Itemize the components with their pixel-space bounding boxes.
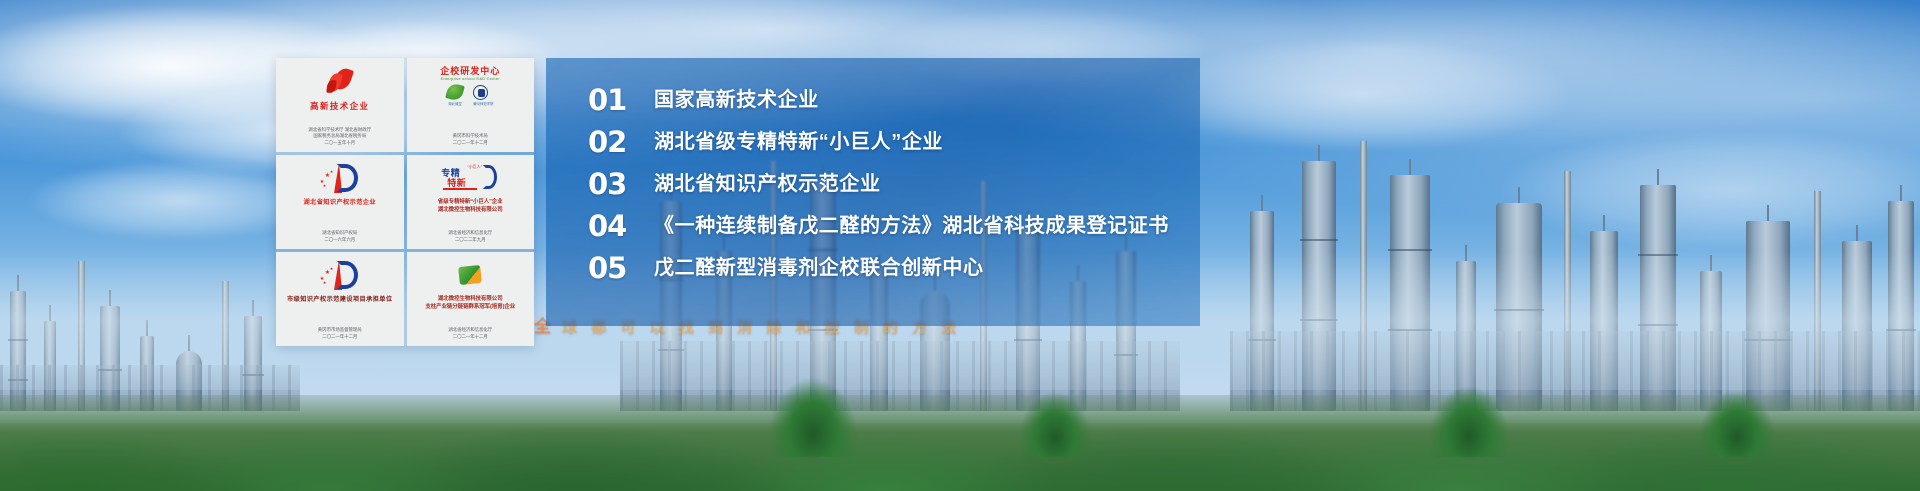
certificate-title: 湖北省知识产权示范企业 (304, 197, 376, 206)
certificate-title-en: Enterprise school R&D Center (440, 77, 500, 81)
blue-arc-icon (337, 261, 358, 289)
honor-number: 04 (588, 212, 632, 241)
seal-icon (473, 85, 488, 100)
palm-tree (1430, 387, 1508, 457)
certificate-card[interactable]: ★★★★ 湖北省知识产权示范企业 湖北省知识产权局 二〇一六年六月 (276, 155, 404, 249)
greenery-foreground (0, 395, 1920, 491)
rd-center-heading: 企校研发中心 Enterprise school R&D Center (440, 64, 500, 81)
certificate-title: 湖北微控生物科技有限公司 支柱产业链分链链群系冠军(培育)企业 (425, 295, 515, 311)
certificate-title: 企校研发中心 (440, 64, 500, 77)
underline-bar (443, 188, 477, 190)
honor-label: 湖北省知识产权示范企业 (654, 173, 881, 196)
green-box-emblem (459, 258, 481, 292)
certificate-issuer: 黄冈市市场监督管理局 二〇二一年十二月 (318, 327, 362, 342)
sail-star-emblem: ★★★★ (320, 161, 360, 195)
certificate-title: 省级专精特新“小巨人”企业 湖北微控生物科技有限公司 (438, 198, 503, 214)
honor-item: 04 《一种连续制备戊二醛的方法》湖北省科技成果登记证书 (588, 212, 1190, 241)
certificate-issuer: 湖北省科学技术厅 湖北省财政厅 国家税务总局湖北省税务局 二〇一五年十月 (308, 127, 371, 148)
certificate-card[interactable]: 湖北微控生物科技有限公司 支柱产业链分链链群系冠军(培育)企业 湖北省经济和信息… (407, 252, 535, 346)
leaf-icon (445, 82, 465, 102)
honor-label: 湖北省级专精特新“小巨人”企业 (654, 131, 943, 154)
honors-panel: 01 国家高新技术企业 02 湖北省级专精特新“小巨人”企业 03 湖北省知识产… (546, 58, 1200, 326)
honor-label: 戊二醛新型消毒剂企校联合创新中心 (654, 257, 984, 280)
certificate-issuer: 湖北省经济和信息化厅 二〇二一年十二月 (448, 327, 492, 342)
company-honors-banner: 全 球 都 可 以 找 到 消 除 和 控 制 的 方 法 高新技术企业 湖北省… (0, 0, 1920, 491)
certificate-issuer: 黄冈市科学技术局 二〇二一年十二月 (453, 133, 488, 148)
honor-item: 05 戊二醛新型消毒剂企校联合创新中心 (588, 254, 1190, 283)
certificate-card[interactable]: ★★★★ 市级知识产权示范建设项目承担单位 黄冈市市场监督管理局 二〇二一年十二… (276, 252, 404, 346)
emblem-quote-mark: “小巨人” (467, 164, 482, 170)
sail-star-emblem: ★★★★ (320, 258, 360, 292)
certificate-card[interactable]: 专精 “小巨人” 特新 省级专精特新“小巨人”企业 湖北微控生物科技有限公司 湖… (407, 155, 535, 249)
honor-label: 《一种连续制备戊二醛的方法》湖北省科技成果登记证书 (654, 215, 1169, 238)
honors-list: 01 国家高新技术企业 02 湖北省级专精特新“小巨人”企业 03 湖北省知识产… (588, 86, 1190, 283)
swoosh-icon (483, 165, 497, 189)
honor-number: 01 (588, 86, 632, 115)
certificate-card[interactable]: 高新技术企业 湖北省科学技术厅 湖北省财政厅 国家税务总局湖北省税务局 二〇一五… (276, 58, 404, 152)
palm-tree (770, 379, 856, 457)
honor-label: 国家高新技术企业 (654, 89, 819, 112)
certificate-issuer: 湖北省经济和信息化厅 二〇二二年九月 (448, 230, 492, 245)
certificate-title: 高新技术企业 (310, 100, 369, 112)
partner-label: 黄冈师范学院 (473, 101, 493, 106)
certificate-title: 市级知识产权示范建设项目承担单位 (287, 294, 392, 303)
partner-logos: 湖北微控 黄冈师范学院 (447, 84, 493, 106)
certificate-card[interactable]: 企校研发中心 Enterprise school R&D Center 湖北微控… (407, 58, 535, 152)
honor-number: 05 (588, 254, 632, 283)
certificate-grid: 高新技术企业 湖北省科学技术厅 湖北省财政厅 国家税务总局湖北省税务局 二〇一五… (276, 58, 534, 346)
honor-number: 03 (588, 170, 632, 199)
flame-emblem (327, 64, 353, 98)
zhuanjing-texin-emblem: 专精 “小巨人” 特新 (441, 161, 499, 195)
blue-arc-icon (337, 164, 358, 192)
honor-item: 02 湖北省级专精特新“小巨人”企业 (588, 128, 1190, 157)
palm-tree (1700, 391, 1774, 457)
certificate-issuer: 湖北省知识产权局 二〇一六年六月 (322, 230, 357, 245)
honor-item: 01 国家高新技术企业 (588, 86, 1190, 115)
palm-tree (1020, 393, 1090, 457)
partner-label: 湖北微控 (447, 101, 463, 106)
honor-number: 02 (588, 128, 632, 157)
honor-item: 03 湖北省知识产权示范企业 (588, 170, 1190, 199)
